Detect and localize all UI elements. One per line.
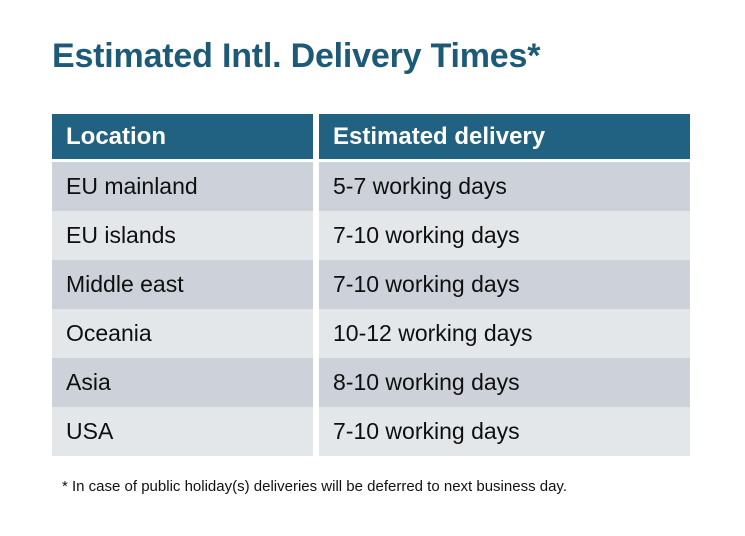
column-header-delivery: Estimated delivery: [319, 114, 690, 162]
delivery-times-table: Location Estimated delivery EU mainland …: [52, 114, 690, 456]
table-row: EU islands 7-10 working days: [52, 211, 690, 260]
cell-location: USA: [52, 407, 313, 456]
cell-location: EU mainland: [52, 162, 313, 211]
footnote: * In case of public holiday(s) deliverie…: [62, 478, 567, 495]
cell-location: Asia: [52, 358, 313, 407]
cell-delivery: 8-10 working days: [319, 358, 690, 407]
cell-location: Oceania: [52, 309, 313, 358]
table-header: Location Estimated delivery: [52, 114, 690, 162]
table-body: EU mainland 5-7 working days EU islands …: [52, 162, 690, 456]
table-row: Asia 8-10 working days: [52, 358, 690, 407]
cell-delivery: 7-10 working days: [319, 407, 690, 456]
cell-delivery: 10-12 working days: [319, 309, 690, 358]
delivery-times-page: Estimated Intl. Delivery Times* Location…: [0, 0, 745, 536]
cell-location: EU islands: [52, 211, 313, 260]
cell-location: Middle east: [52, 260, 313, 309]
column-header-location: Location: [52, 114, 313, 162]
page-title: Estimated Intl. Delivery Times*: [52, 36, 540, 77]
table-header-row: Location Estimated delivery: [52, 114, 690, 162]
table-row: Oceania 10-12 working days: [52, 309, 690, 358]
table-row: Middle east 7-10 working days: [52, 260, 690, 309]
table-row: USA 7-10 working days: [52, 407, 690, 456]
cell-delivery: 7-10 working days: [319, 211, 690, 260]
table-row: EU mainland 5-7 working days: [52, 162, 690, 211]
cell-delivery: 5-7 working days: [319, 162, 690, 211]
cell-delivery: 7-10 working days: [319, 260, 690, 309]
